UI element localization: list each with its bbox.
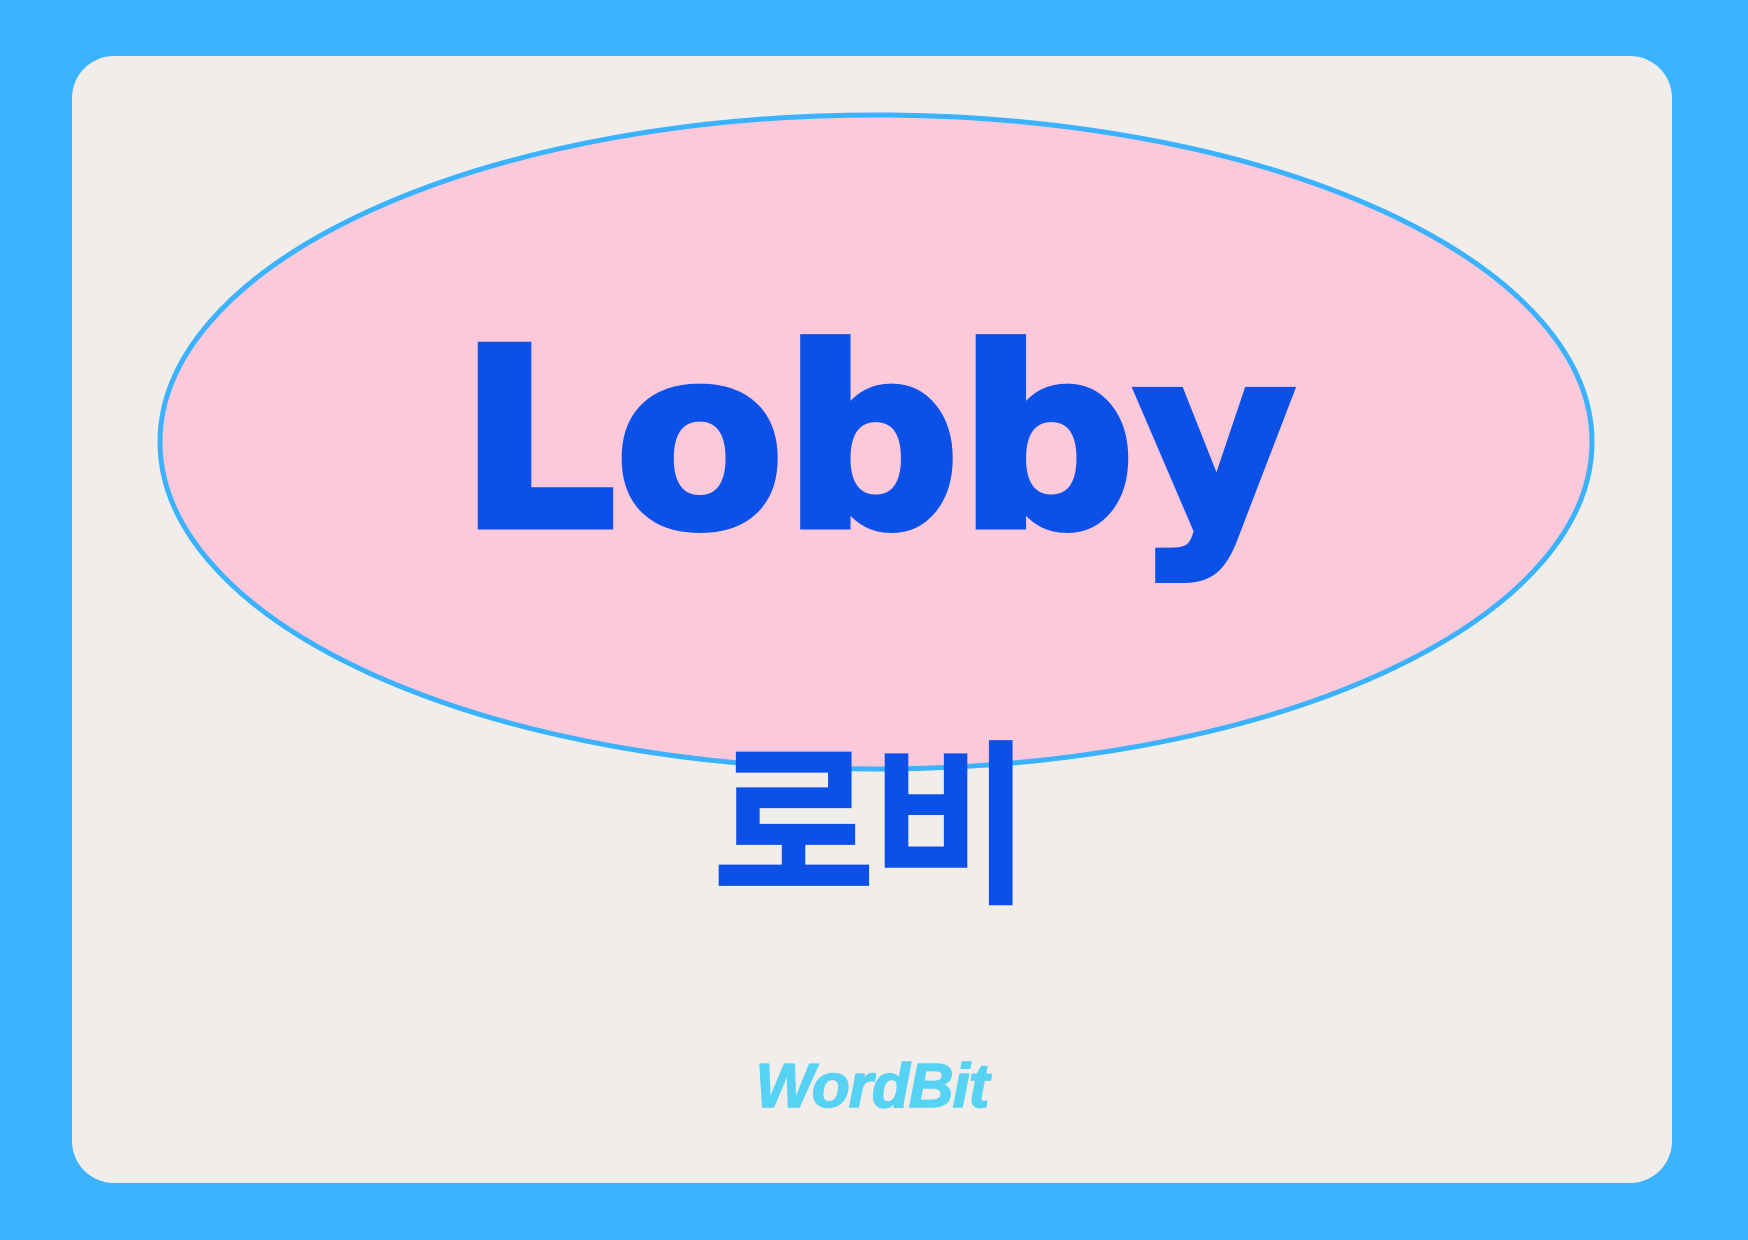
brand-wordmark: WordBit (72, 1056, 1672, 1118)
flashcard-root: Lobby 로비 WordBit (0, 0, 1748, 1240)
word-highlight-ellipse: Lobby (157, 112, 1595, 772)
flashcard-card[interactable]: Lobby 로비 WordBit (72, 56, 1672, 1183)
term-translation: 로비 (72, 732, 1672, 925)
term-primary: Lobby (157, 112, 1595, 772)
